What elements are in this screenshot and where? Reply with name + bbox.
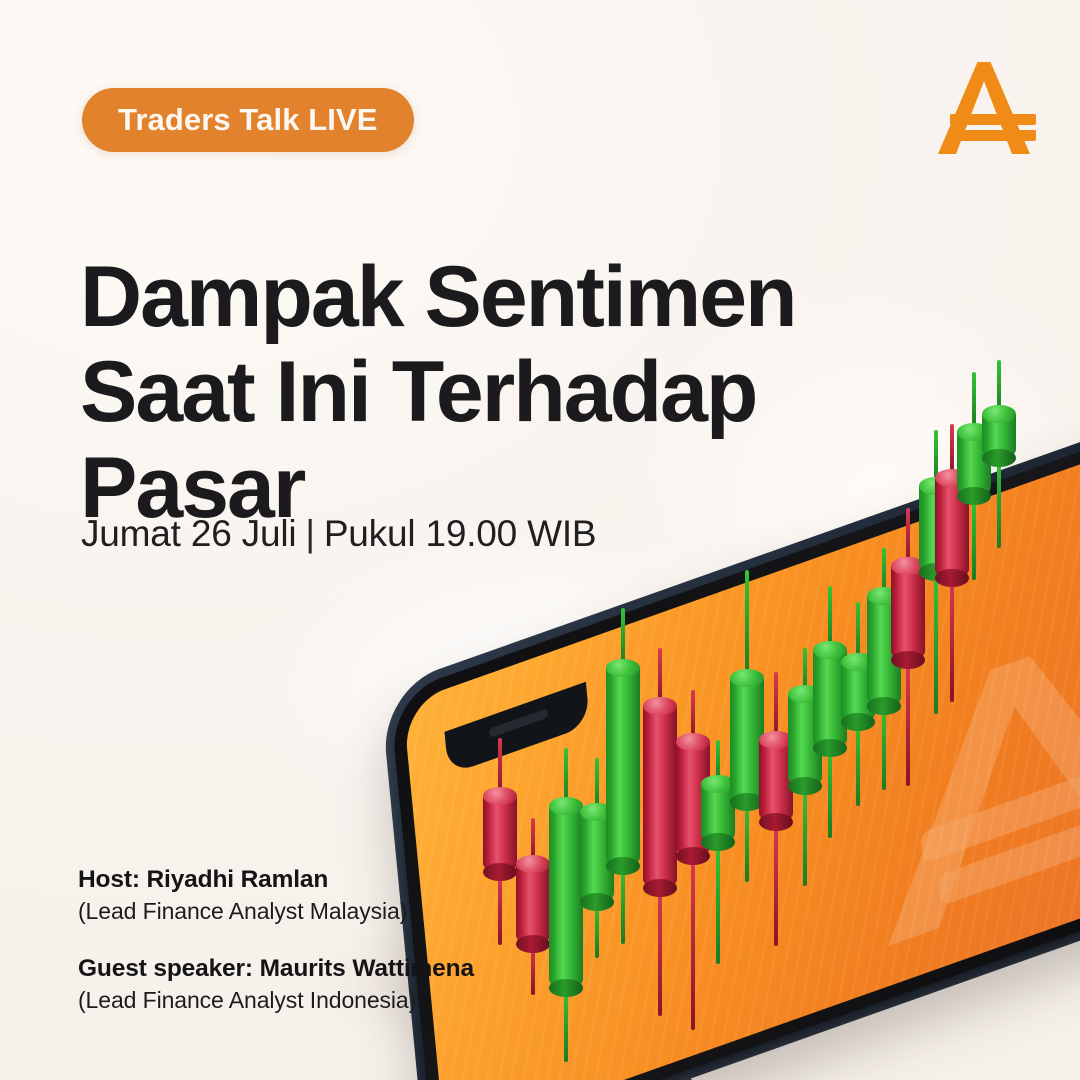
candle-top-cap [730, 669, 764, 687]
candle-upper-wick [564, 748, 568, 806]
candle-upper-wick [691, 690, 695, 742]
headline-line-2: Saat Ini Terhadap [80, 345, 800, 441]
candlestick-up [919, 486, 953, 572]
credits-block: Host: Riyadhi Ramlan (Lead Finance Analy… [78, 866, 474, 1014]
candle-body [935, 478, 969, 578]
event-date: Jumat 26 Juli [81, 513, 296, 554]
candle-body [643, 706, 677, 888]
credit-host: Host: Riyadhi Ramlan (Lead Finance Analy… [78, 866, 474, 925]
candle-upper-wick [803, 648, 807, 694]
candle-body [516, 864, 550, 944]
candle-body [759, 740, 793, 822]
candle-top-cap [606, 659, 640, 677]
candlestick-down [516, 864, 550, 944]
candle-body [841, 662, 875, 722]
candle-top-cap [516, 855, 550, 873]
candle-upper-wick [774, 672, 778, 740]
candle-lower-wick [972, 496, 976, 580]
brand-a-logo [930, 56, 1038, 160]
candle-upper-wick [745, 570, 749, 678]
candle-body [813, 650, 847, 748]
candle-top-cap [935, 469, 969, 487]
candlestick-up [549, 806, 583, 988]
candlestick-down [676, 742, 710, 856]
candle-body [701, 784, 735, 842]
background-glow-left [240, 520, 860, 850]
candlestick-down [483, 796, 517, 872]
candle-lower-wick [595, 902, 599, 958]
candle-top-cap [867, 587, 901, 605]
candle-lower-wick [934, 572, 938, 714]
candlestick-up [580, 812, 614, 902]
candle-top-cap [759, 731, 793, 749]
candle-lower-wick [906, 660, 910, 786]
candle-body [957, 432, 991, 496]
candle-body [919, 486, 953, 572]
candle-lower-wick [997, 458, 1001, 548]
candle-upper-wick [531, 818, 535, 864]
screen-watermark-a-icon [857, 597, 1080, 964]
candle-lower-wick [531, 944, 535, 995]
candle-lower-wick [803, 786, 807, 886]
candle-upper-wick [498, 738, 502, 796]
candle-body [867, 596, 901, 706]
candlestick-down [643, 706, 677, 888]
candle-lower-wick [564, 988, 568, 1062]
candle-body [580, 812, 614, 902]
candlestick-up [982, 414, 1016, 458]
candle-lower-wick [882, 706, 886, 790]
credit-guest-role: (Lead Finance Analyst Indonesia) [78, 987, 474, 1014]
candle-top-cap [891, 557, 925, 575]
candle-lower-wick [691, 856, 695, 1030]
candlestick-up [701, 784, 735, 842]
candle-upper-wick [658, 648, 662, 706]
live-badge: Traders Talk LIVE [82, 88, 414, 152]
candlestick-up [957, 432, 991, 496]
candle-lower-wick [828, 748, 832, 838]
candle-top-cap [643, 697, 677, 715]
candlestick-up [867, 596, 901, 706]
candle-lower-wick [856, 722, 860, 806]
credit-host-name: Host: Riyadhi Ramlan [78, 866, 474, 894]
candle-upper-wick [828, 586, 832, 650]
promo-poster: Traders Talk LIVE Dampak Sentimen Saat I… [0, 0, 1080, 1080]
candle-lower-wick [950, 578, 954, 702]
candle-lower-wick [745, 802, 749, 882]
candle-lower-wick [621, 866, 625, 944]
candle-top-cap [957, 423, 991, 441]
candlestick-down [935, 478, 969, 578]
candle-upper-wick [972, 372, 976, 432]
candle-body [891, 566, 925, 660]
candlestick-up [841, 662, 875, 722]
schedule-separator: | [305, 513, 314, 555]
credit-guest-name: Guest speaker: Maurits Wattimena [78, 955, 474, 983]
candle-top-cap [549, 797, 583, 815]
candle-upper-wick [716, 740, 720, 784]
candle-body [549, 806, 583, 988]
candle-lower-wick [716, 842, 720, 964]
candlestick-up [813, 650, 847, 748]
candlestick-up [730, 678, 764, 802]
candle-body [730, 678, 764, 802]
candlestick-up [788, 694, 822, 786]
candle-lower-wick [774, 822, 778, 946]
candlestick-up [606, 668, 640, 866]
candle-upper-wick [595, 758, 599, 812]
candle-upper-wick [856, 602, 860, 662]
phone-earpiece [489, 708, 548, 738]
candle-top-cap [788, 685, 822, 703]
candle-upper-wick [621, 608, 625, 668]
candle-upper-wick [934, 430, 938, 486]
candle-top-cap [483, 787, 517, 805]
candlestick-down [891, 566, 925, 660]
event-time: Pukul 19.00 WIB [324, 513, 597, 554]
phone-notch [444, 682, 590, 775]
candle-lower-wick [658, 888, 662, 1016]
candle-top-cap [982, 405, 1016, 423]
volume-down-button [651, 1076, 694, 1080]
credit-host-role: (Lead Finance Analyst Malaysia) [78, 898, 474, 925]
live-badge-label: Traders Talk LIVE [118, 102, 378, 138]
headline-line-1: Dampak Sentimen [80, 250, 800, 346]
candle-top-cap [919, 477, 953, 495]
candle-upper-wick [882, 548, 886, 596]
page-title: Dampak Sentimen Saat Ini Terhadap Pasar [80, 250, 800, 538]
candle-top-cap [841, 653, 875, 671]
candlestick-down [759, 740, 793, 822]
candle-body [606, 668, 640, 866]
candle-upper-wick [906, 508, 910, 566]
event-schedule: Jumat 26 Juli|Pukul 19.00 WIB [81, 513, 596, 555]
candle-body [676, 742, 710, 856]
candle-upper-wick [997, 360, 1001, 414]
candle-lower-wick [498, 872, 502, 945]
candle-top-cap [701, 775, 735, 793]
credit-guest: Guest speaker: Maurits Wattimena (Lead F… [78, 955, 474, 1014]
candle-body [483, 796, 517, 872]
candle-body [982, 414, 1016, 458]
candle-upper-wick [950, 424, 954, 478]
candle-top-cap [813, 641, 847, 659]
candle-body [788, 694, 822, 786]
candle-top-cap [580, 803, 614, 821]
candle-top-cap [676, 733, 710, 751]
